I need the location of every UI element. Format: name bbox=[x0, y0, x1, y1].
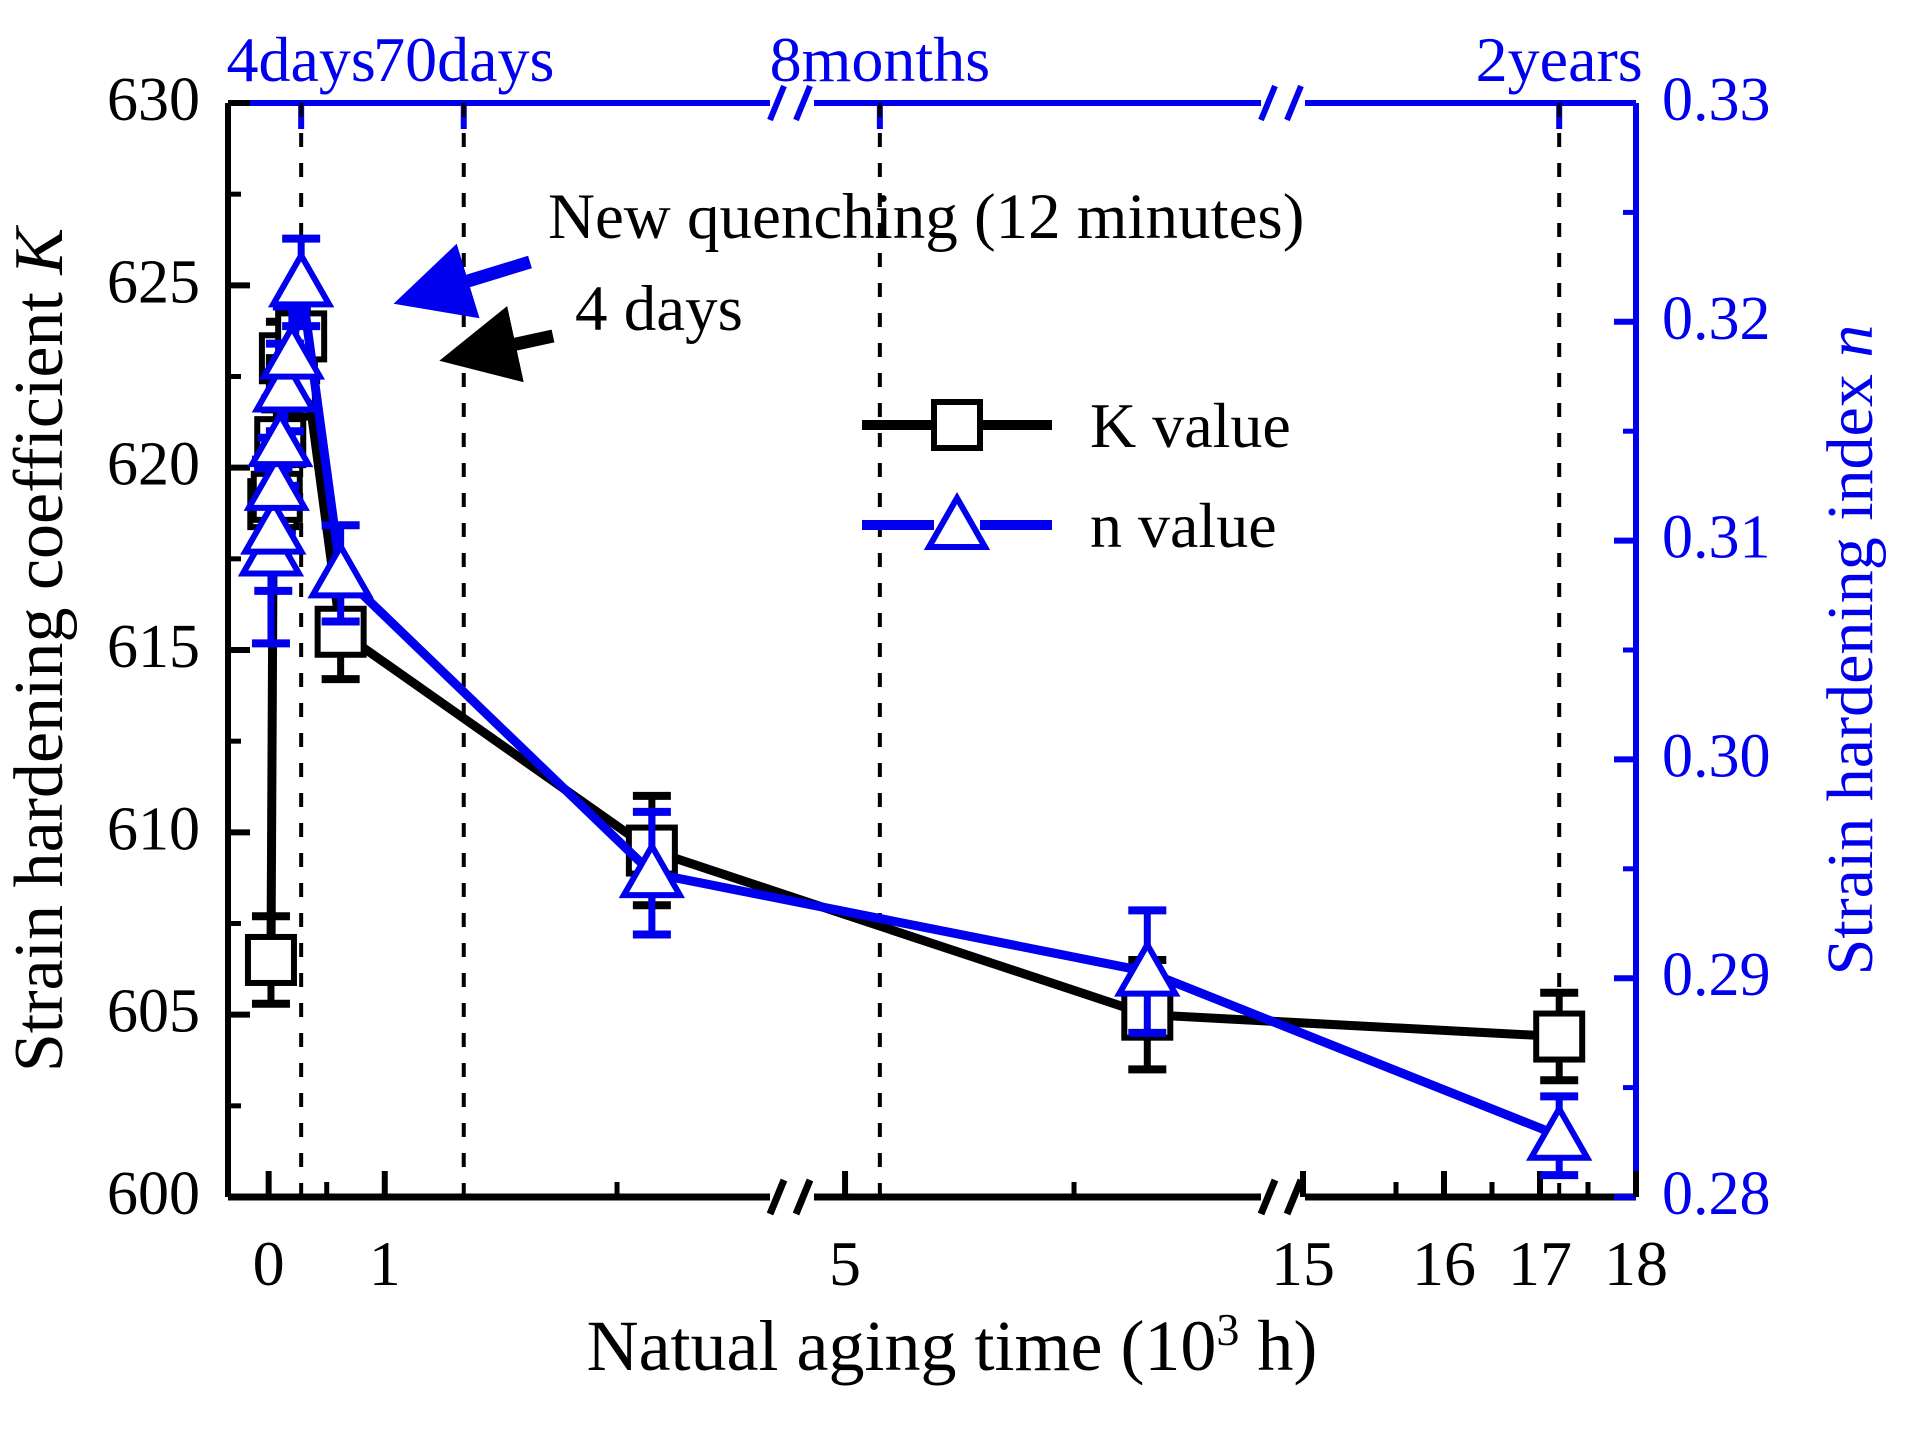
data-series bbox=[243, 239, 1587, 1175]
legend-item-n-value: n value bbox=[862, 490, 1277, 561]
left-tick-label: 605 bbox=[107, 978, 200, 1046]
marker-triangle bbox=[313, 546, 369, 595]
legend-label: n value bbox=[1090, 490, 1277, 561]
marker-square bbox=[1536, 1014, 1582, 1060]
x-tick-label: 15 bbox=[1271, 1228, 1335, 1299]
x-axis-title: Natual aging time (103 h) bbox=[587, 1304, 1318, 1387]
right-tick-label: 0.30 bbox=[1662, 722, 1771, 790]
legend-item-k-value: K value bbox=[862, 390, 1291, 461]
annotation-new-quenching-arrow bbox=[406, 262, 530, 300]
right-tick-label: 0.31 bbox=[1662, 504, 1771, 572]
annotation-new-quenching-text: New quenching (12 minutes) bbox=[548, 181, 1304, 253]
legend-marker-square bbox=[934, 402, 980, 448]
axis-break-mark bbox=[770, 1177, 814, 1217]
legend: K valuen value bbox=[862, 390, 1291, 561]
marker-triangle bbox=[273, 255, 329, 304]
chart-figure: 6306256206156106056000.330.320.310.300.2… bbox=[0, 0, 1913, 1455]
top-tick-label: 2years bbox=[1476, 24, 1643, 95]
top-tick-label: 8months bbox=[770, 24, 990, 95]
right-tick-label: 0.33 bbox=[1662, 66, 1771, 134]
reference-lines bbox=[301, 103, 1559, 1197]
left-tick-label: 600 bbox=[107, 1160, 200, 1228]
right-tick-label: 0.29 bbox=[1662, 941, 1771, 1009]
left-tick-label: 615 bbox=[107, 613, 200, 681]
x-tick-label: 18 bbox=[1604, 1228, 1668, 1299]
left-tick-label: 620 bbox=[107, 431, 200, 499]
x-tick-label: 16 bbox=[1412, 1228, 1476, 1299]
x-tick-label: 1 bbox=[369, 1228, 401, 1299]
chart-svg: 6306256206156106056000.330.320.310.300.2… bbox=[0, 0, 1913, 1455]
series-k-value bbox=[248, 293, 1582, 1081]
right-tick-label: 0.28 bbox=[1662, 1160, 1771, 1228]
left-tick-label: 630 bbox=[107, 66, 200, 134]
annotation-four-days-text: 4 days bbox=[575, 273, 743, 345]
x-tick-label: 0 bbox=[253, 1228, 285, 1299]
top-tick-label: 70days bbox=[373, 24, 554, 95]
marker-triangle bbox=[1531, 1109, 1587, 1158]
y-axis-right-title: Strain hardening index n bbox=[1814, 325, 1887, 976]
top-axis-ticks: 4days70days8months2years bbox=[227, 24, 1643, 129]
legend-marker-triangle bbox=[929, 498, 985, 547]
annotation-four-days-arrow bbox=[452, 336, 553, 358]
axis-break-mark bbox=[1261, 1177, 1305, 1217]
legend-label: K value bbox=[1090, 390, 1291, 461]
marker-square bbox=[248, 937, 294, 983]
axis-break-mark bbox=[1261, 83, 1305, 123]
left-tick-label: 610 bbox=[107, 795, 200, 863]
y-axis-left-title: Strain hardening coefficient K bbox=[1, 225, 78, 1073]
top-tick-label: 4days bbox=[227, 24, 376, 95]
left-tick-label: 625 bbox=[107, 248, 200, 316]
right-tick-label: 0.32 bbox=[1662, 285, 1771, 353]
x-tick-label: 5 bbox=[829, 1228, 861, 1299]
x-tick-label: 17 bbox=[1508, 1228, 1572, 1299]
annotations: New quenching (12 minutes)4 days bbox=[406, 181, 1304, 358]
